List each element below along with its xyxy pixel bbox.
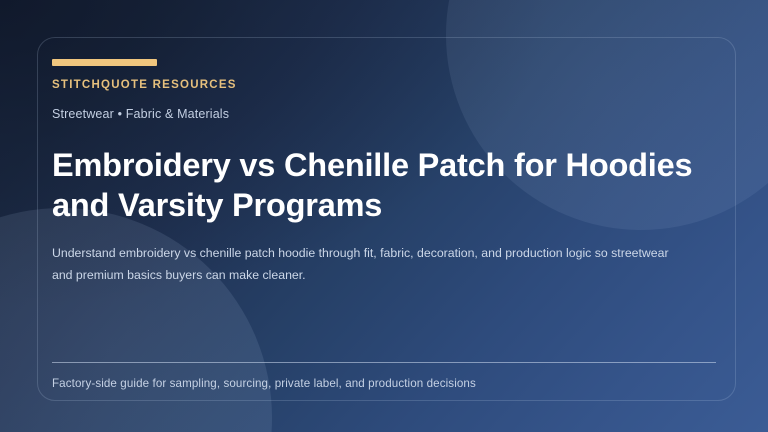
brand-eyebrow: STITCHQUOTE RESOURCES <box>52 79 716 91</box>
header-block: STITCHQUOTE RESOURCES Streetwear • Fabri… <box>52 59 716 286</box>
page-title: Embroidery vs Chenille Patch for Hoodies… <box>52 145 716 225</box>
footer-note: Factory-side guide for sampling, sourcin… <box>52 377 716 390</box>
hero-slide: STITCHQUOTE RESOURCES Streetwear • Fabri… <box>0 0 768 432</box>
accent-bar <box>52 59 157 66</box>
footer-divider <box>52 362 716 363</box>
footer-block: Factory-side guide for sampling, sourcin… <box>52 362 716 390</box>
category-kicker: Streetwear • Fabric & Materials <box>52 107 716 121</box>
page-subtitle: Understand embroidery vs chenille patch … <box>52 242 677 286</box>
